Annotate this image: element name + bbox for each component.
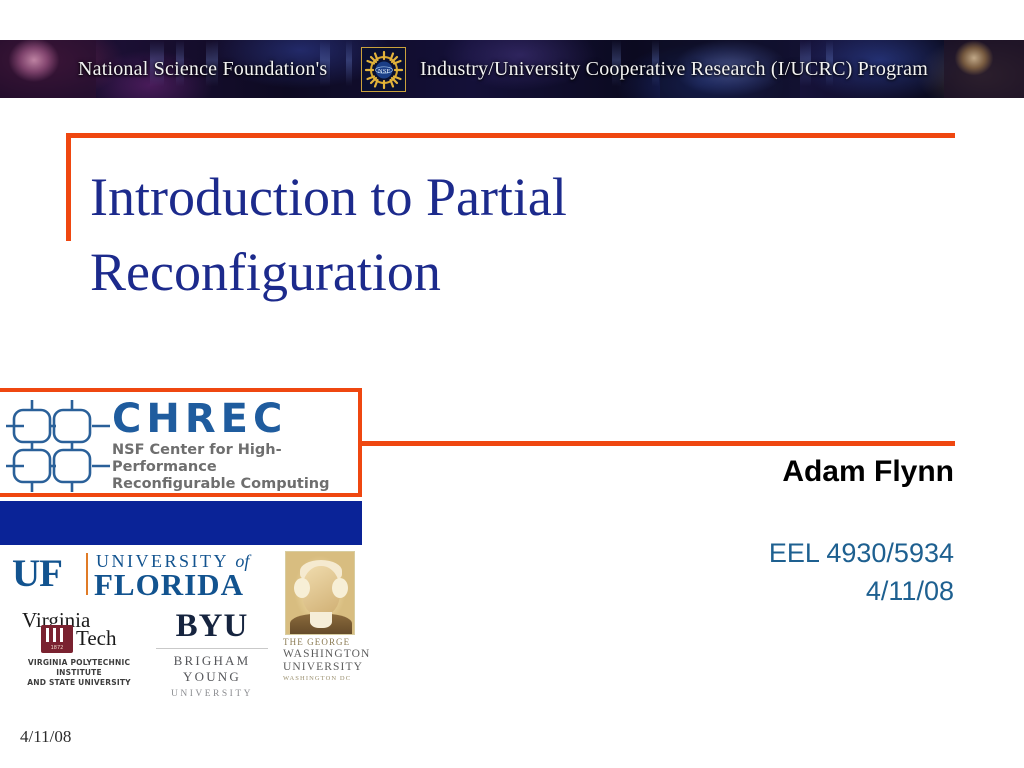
chrec-tagline: NSF Center for High-Performance Reconfig… [112,442,358,493]
virginia-tech-logo: Virginia 1872 Tech VIRGINIA POLYTECHNIC … [14,608,144,687]
gwu-line4: WASHINGTON DC [283,675,363,682]
presentation-slide: National Science Foundation's Industry/U… [0,0,1024,768]
vt-subtitle-line1: VIRGINIA POLYTECHNIC INSTITUTE [14,658,144,678]
byu-logo: BYU BRIGHAM YOUNG UNIVERSITY [152,608,272,699]
byu-divider [156,648,268,649]
gwu-line1: THE GEORGE [283,637,363,647]
svg-text:NSF: NSF [378,68,390,75]
gwu-line3: UNIVERSITY [283,661,363,673]
slide-title-line2: Reconfiguration [90,235,770,310]
nsf-seal-icon: NSF [361,47,406,92]
banner-right-text: Industry/University Cooperative Research… [420,40,928,98]
chrec-logo: CHREC NSF Center for High-Performance Re… [0,388,362,497]
banner-left-text: National Science Foundation's [78,40,327,98]
vt-shield-year: 1872 [51,645,64,651]
uf-monogram: UF [12,551,62,596]
vt-subtitle: VIRGINIA POLYTECHNIC INSTITUTE AND STATE… [14,658,144,687]
byu-line2: UNIVERSITY [152,689,272,699]
vt-subtitle-line2: AND STATE UNIVERSITY [14,678,144,688]
slide-title-line1: Introduction to Partial [90,160,770,235]
presentation-date: 4/11/08 [866,576,954,607]
gwu-line2: WASHINGTON [283,648,363,660]
gwu-logo-text: THE GEORGE WASHINGTON UNIVERSITY WASHING… [283,637,363,682]
presenter-name: Adam Flynn [782,455,954,489]
node-grid-icon [6,400,110,492]
george-washington-portrait [285,551,355,635]
footer-date: 4/11/08 [20,727,71,747]
course-code: EEL 4930/5934 [769,538,954,569]
title-rule-top [66,133,955,138]
divider-rule-middle [362,441,955,446]
banner-photo-right [944,40,1024,98]
title-rule-left [66,133,71,241]
vt-word-tech: Tech [76,626,117,651]
chrec-wordmark: CHREC [112,398,358,440]
chrec-tagline-line1: NSF Center for High-Performance [112,442,358,476]
uf-florida-word: FLORIDA [94,567,244,603]
uf-divider [86,553,88,595]
byu-line1: BRIGHAM YOUNG [152,653,272,685]
vt-shield-icon: 1872 [41,625,73,653]
slide-title: Introduction to Partial Reconfiguration [90,160,770,309]
partner-band [0,501,362,545]
nsf-iucrc-banner: National Science Foundation's Industry/U… [0,40,1024,98]
byu-monogram: BYU [152,608,272,645]
chrec-tagline-line2: Reconfigurable Computing [112,476,358,493]
